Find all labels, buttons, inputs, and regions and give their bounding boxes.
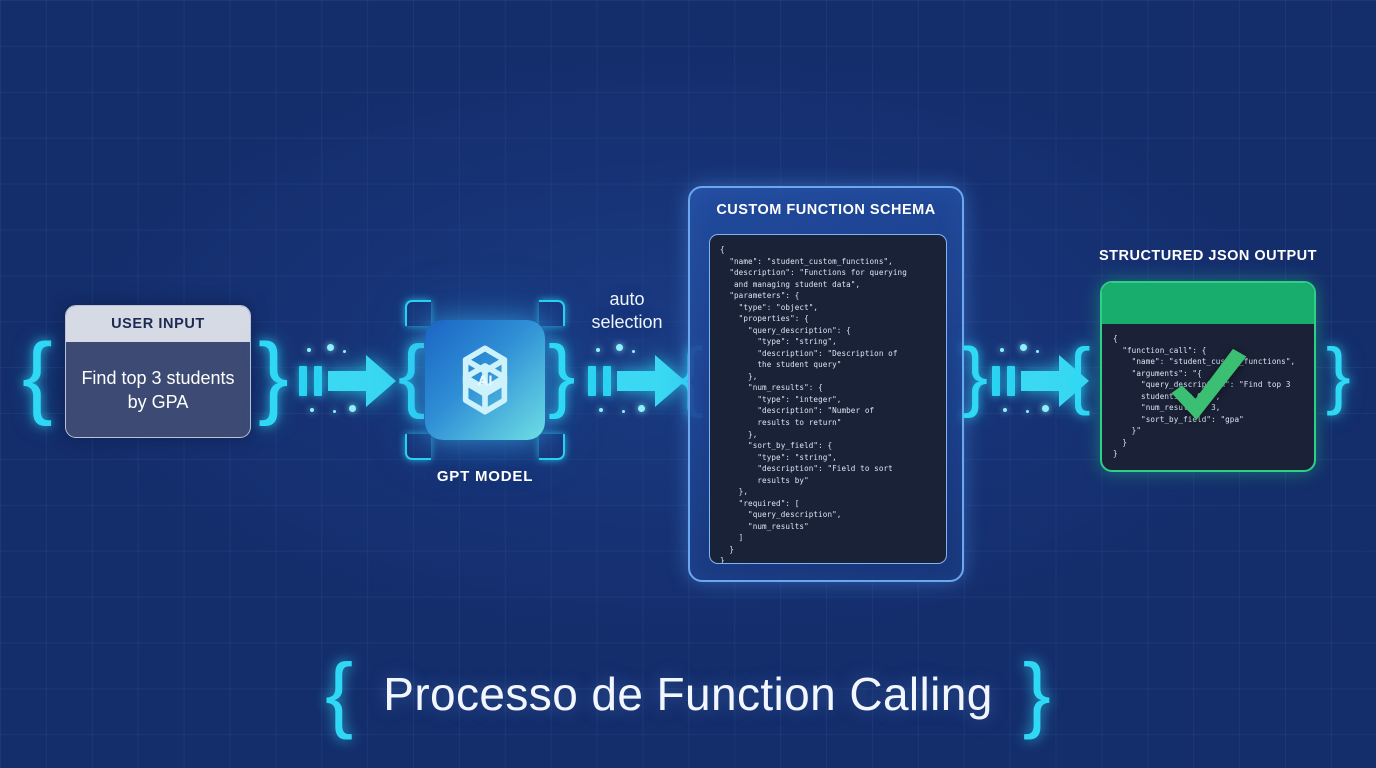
- output-panel-header-bar: [1102, 283, 1314, 324]
- spark-dot: [333, 410, 336, 413]
- arrow-right-icon: [328, 353, 396, 409]
- spark-dot: [599, 408, 603, 412]
- connector-bar: [603, 366, 611, 396]
- connector-bar: [314, 366, 322, 396]
- user-input-close-brace: }: [258, 330, 289, 422]
- spark-dot: [1000, 348, 1004, 352]
- connector-model-to-schema: [586, 342, 690, 420]
- spark-dot: [327, 344, 334, 351]
- auto-selection-line1: auto: [572, 288, 682, 311]
- spark-dot: [343, 350, 346, 353]
- connector-input-to-model: [297, 342, 401, 420]
- spark-dot: [307, 348, 311, 352]
- spark-dot: [1020, 344, 1027, 351]
- spark-dot: [1026, 410, 1029, 413]
- output-panel-title: STRUCTURED JSON OUTPUT: [1060, 248, 1356, 264]
- connector-bar: [299, 366, 307, 396]
- connector-bar: [1007, 366, 1015, 396]
- corner-bracket-icon: [405, 434, 431, 460]
- connector-bar: [588, 366, 596, 396]
- spark-dot: [596, 348, 600, 352]
- spark-dot: [616, 344, 623, 351]
- gpt-model-tile: AI: [425, 320, 545, 440]
- schema-code-text: { "name": "student_custom_functions", "d…: [720, 244, 936, 564]
- footer-close-brace: }: [1023, 660, 1051, 727]
- schema-panel-title: CUSTOM FUNCTION SCHEMA: [690, 202, 962, 218]
- gpt-ai-badge: AI: [478, 372, 493, 389]
- auto-selection-line2: selection: [572, 311, 682, 334]
- corner-bracket-icon: [405, 300, 431, 326]
- spark-dot: [632, 350, 635, 353]
- spark-dot: [349, 405, 356, 412]
- footer-open-brace: {: [325, 660, 353, 727]
- spark-dot: [638, 405, 645, 412]
- openai-logo-icon: AI: [441, 336, 529, 424]
- user-input-header: USER INPUT: [66, 306, 250, 342]
- auto-selection-label: auto selection: [572, 288, 682, 333]
- gpt-model-label: GPT MODEL: [365, 468, 605, 485]
- spark-dot: [1036, 350, 1039, 353]
- user-input-text: Find top 3 students by GPA: [66, 342, 250, 438]
- output-close-brace: }: [1326, 338, 1351, 412]
- user-input-card: USER INPUT Find top 3 students by GPA: [65, 305, 251, 438]
- spark-dot: [1003, 408, 1007, 412]
- spark-dot: [310, 408, 314, 412]
- custom-function-schema-panel: CUSTOM FUNCTION SCHEMA { "name": "studen…: [688, 186, 964, 582]
- check-mark-icon: [1160, 345, 1256, 441]
- gpt-close-brace: }: [548, 334, 575, 416]
- schema-close-brace: }: [962, 336, 988, 414]
- schema-code-block: { "name": "student_custom_functions", "d…: [709, 234, 947, 564]
- page-title: Processo de Function Calling: [383, 667, 993, 721]
- corner-bracket-icon: [539, 300, 565, 326]
- user-input-open-brace: {: [22, 330, 53, 422]
- corner-bracket-icon: [539, 434, 565, 460]
- connector-bar: [992, 366, 1000, 396]
- spark-dot: [622, 410, 625, 413]
- gpt-model-node: AI GPT MODEL: [405, 300, 565, 460]
- arrow-right-icon: [617, 353, 685, 409]
- output-open-brace: {: [1066, 338, 1091, 412]
- spark-dot: [1042, 405, 1049, 412]
- footer-title-group: { Processo de Function Calling }: [0, 660, 1376, 727]
